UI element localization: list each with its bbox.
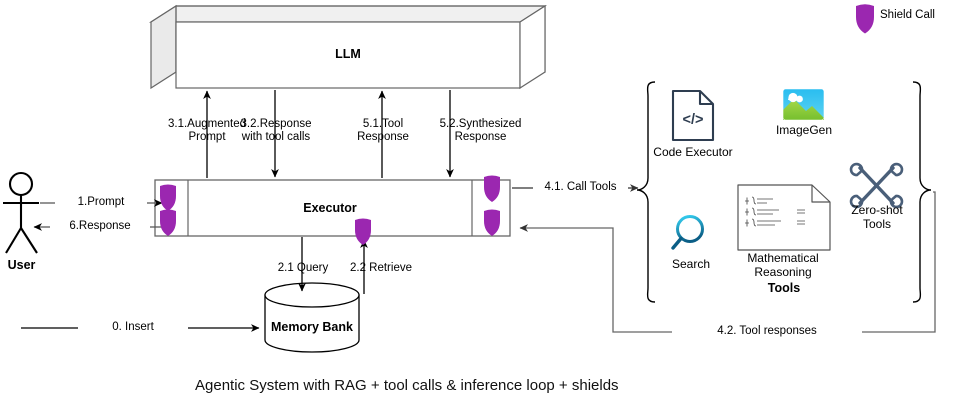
flow-label-6: 6.Response [50, 220, 150, 234]
executor-label: Executor [188, 201, 472, 215]
flow-label-4-2: 4.2. Tool responses [672, 325, 862, 339]
flow-label-5-2-line2: Response [418, 131, 543, 145]
memory-bank-label: Memory Bank [265, 320, 359, 334]
code-document-icon: </> [673, 91, 713, 140]
tool-label-search: Search [660, 258, 722, 272]
tool-label-math-line1: Mathematical [726, 252, 840, 266]
crossed-wrenches-icon [851, 164, 902, 207]
image-picture-icon [783, 89, 824, 120]
legend-shield-icon [856, 4, 874, 33]
user-label: User [0, 258, 43, 272]
tool-label-code-executor: Code Executor [643, 146, 743, 160]
tool-label-zero-shot-line1: Zero-shot [838, 204, 916, 218]
flow-label-1: 1.Prompt [55, 196, 147, 210]
shield-icon [355, 219, 371, 246]
formula-document-icon [738, 185, 830, 250]
flow-label-5-2-line1: 5.2.Synthesized [418, 118, 543, 132]
user-node[interactable] [3, 173, 39, 253]
flow-label-5-1-line1: 5.1.Tool [338, 118, 428, 132]
diagram-canvas: </> [0, 0, 970, 411]
legend-label: Shield Call [880, 9, 970, 23]
flow-label-2-1: 2.1 Query [263, 262, 343, 276]
flow-label-5-1-line2: Response [338, 131, 428, 145]
flow-label-3-2-line1: 3.2.Response [216, 118, 336, 132]
flow-label-2-2: 2.2 Retrieve [334, 262, 428, 276]
flow-label-4-1: 4.1. Call Tools [533, 181, 628, 195]
tool-label-zero-shot-line2: Tools [838, 218, 916, 232]
memory-bank-node[interactable] [265, 283, 359, 352]
flow-label-3-2-line2: with tool calls [216, 131, 336, 145]
llm-label: LLM [176, 47, 520, 61]
diagram-caption: Agentic System with RAG + tool calls & i… [195, 377, 619, 394]
tool-label-imagegen: ImageGen [768, 124, 840, 138]
svg-text:</>: </> [683, 112, 704, 128]
tools-group-label: Tools [738, 281, 830, 295]
flow-label-0: 0. Insert [78, 321, 188, 335]
tool-label-math-line2: Reasoning [726, 266, 840, 280]
magnifier-icon [673, 217, 703, 249]
